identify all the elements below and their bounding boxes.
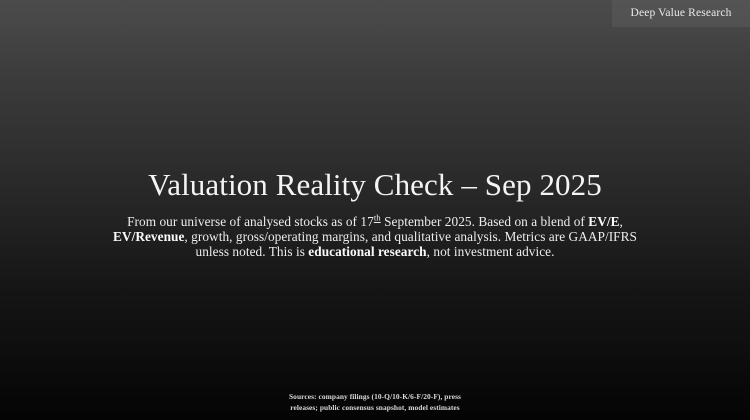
subtitle-emphasis-ev-revenue: EV/Revenue: [113, 229, 184, 244]
sources-line-2: releases; public consensus snapshot, mod…: [0, 402, 750, 414]
sources-line-1: Sources: company filings (10-Q/10-K/6-F/…: [0, 391, 750, 403]
subtitle-segment-1: From our universe of analysed stocks as …: [127, 214, 374, 229]
subtitle-emphasis-ev-e: EV/E: [588, 214, 619, 229]
page-title: Valuation Reality Check – Sep 2025: [0, 168, 750, 201]
subtitle-segment-2: September 2025. Based on a blend of: [381, 214, 589, 229]
presentation-slide: Deep Value Research Valuation Reality Ch…: [0, 0, 750, 420]
subtitle-emphasis-educational-research: educational research: [308, 244, 426, 259]
brand-badge-label: Deep Value Research: [631, 8, 732, 20]
brand-badge: Deep Value Research: [612, 0, 750, 27]
slide-hero-block: Valuation Reality Check – Sep 2025 From …: [0, 168, 750, 259]
sources-footnote: Sources: company filings (10-Q/10-K/6-F/…: [0, 391, 750, 414]
ordinal-suffix: th: [374, 213, 381, 223]
subtitle-segment-3: ,: [620, 214, 623, 229]
slide-subtitle: From our universe of analysed stocks as …: [99, 215, 651, 259]
subtitle-segment-5: , not investment advice.: [427, 244, 555, 259]
